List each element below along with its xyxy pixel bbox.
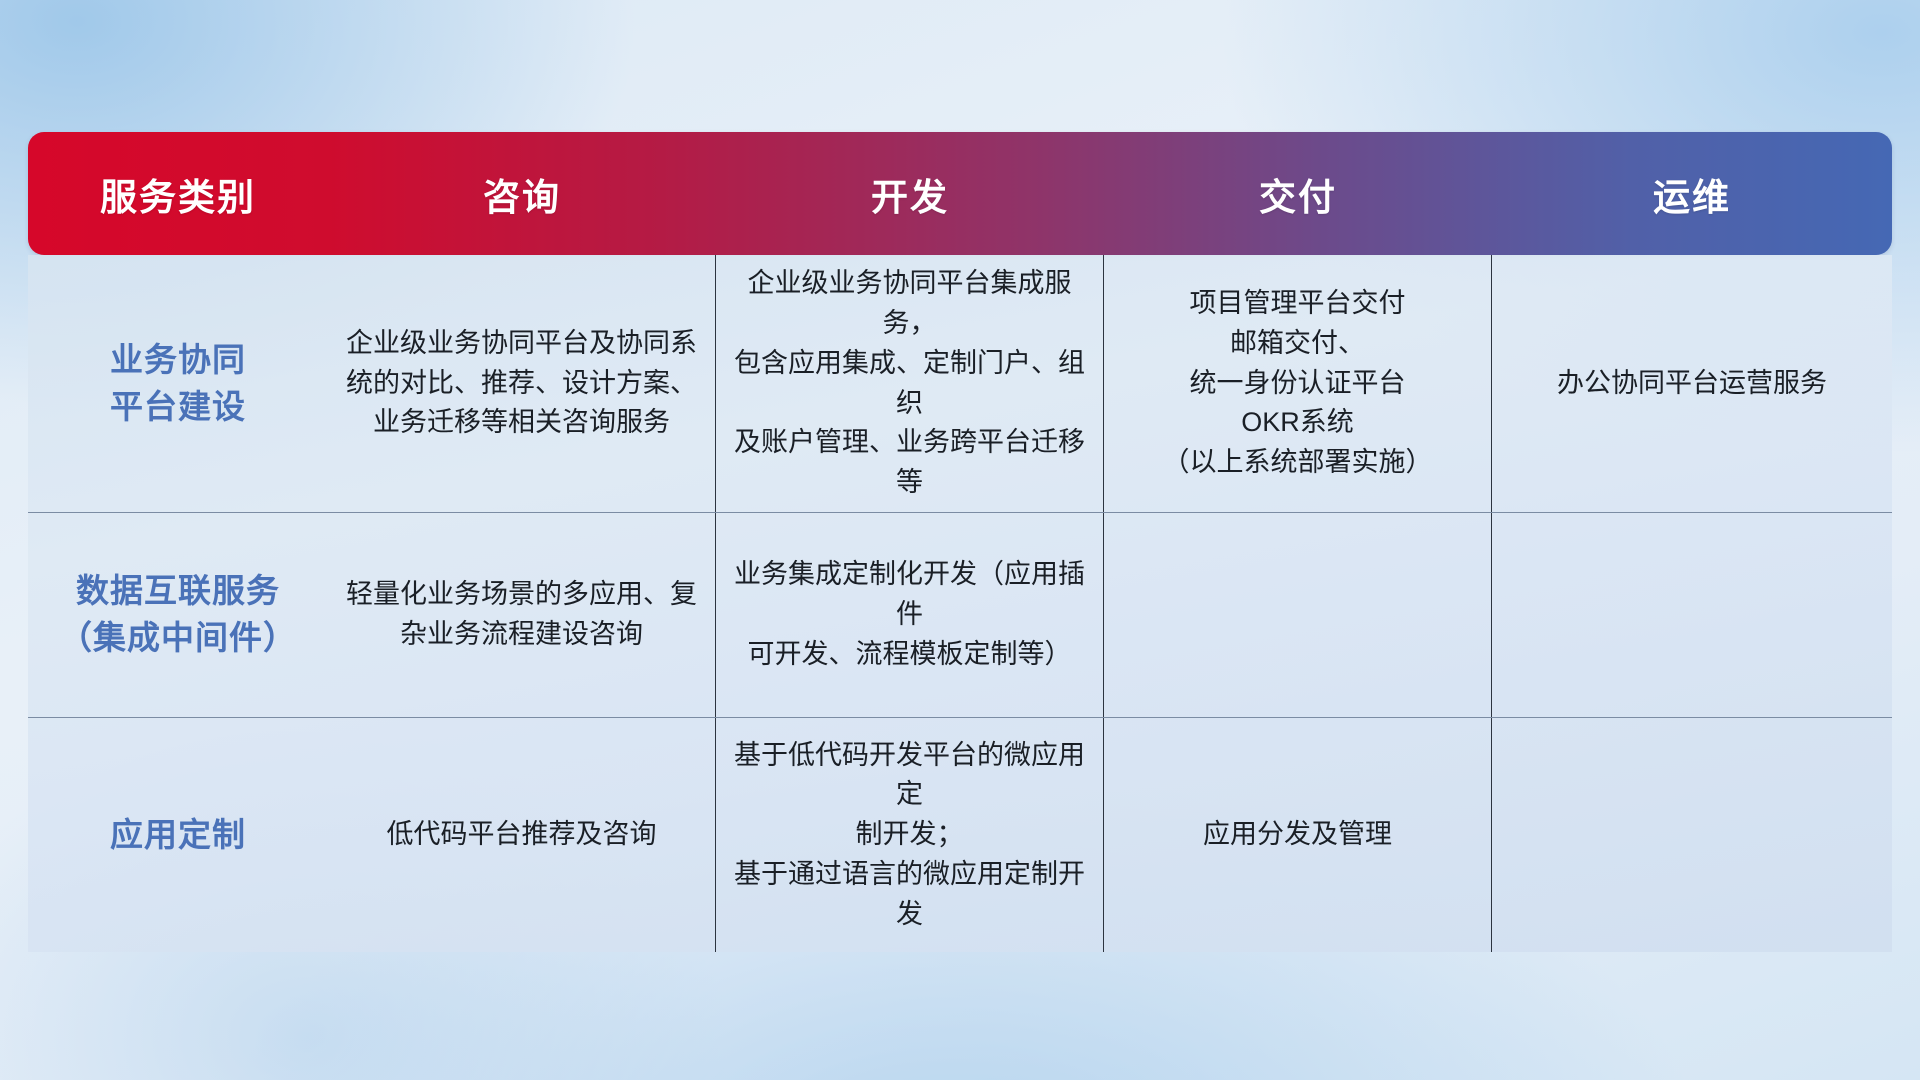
column-header-develop: 开发 [716, 132, 1104, 255]
row-3-consult-cell: 低代码平台推荐及咨询 [328, 718, 716, 952]
column-header-ops: 运维 [1492, 132, 1892, 255]
row-1-consult-text: 企业级业务协同平台及协同系 统的对比、推荐、设计方案、 业务迁移等相关咨询服务 [346, 324, 697, 443]
row-3-deliver-text: 应用分发及管理 [1203, 815, 1392, 855]
row-2-deliver-cell [1104, 513, 1492, 717]
column-header-category-label: 服务类别 [100, 167, 256, 221]
row-1-develop-text: 企业级业务协同平台集成服务， 包含应用集成、定制门户、组织 及账户管理、业务跨平… [730, 264, 1089, 502]
row-1-deliver-cell: 项目管理平台交付 邮箱交付、 统一身份认证平台 OKR系统 （以上系统部署实施） [1104, 255, 1492, 512]
row-1-develop-cell: 企业级业务协同平台集成服务， 包含应用集成、定制门户、组织 及账户管理、业务跨平… [716, 255, 1104, 512]
row-3-ops-cell [1492, 718, 1892, 952]
column-header-ops-label: 运维 [1653, 167, 1731, 221]
row-2-develop-text: 业务集成定制化开发（应用插件 可开发、流程模板定制等） [730, 555, 1089, 674]
column-header-consult-label: 咨询 [483, 167, 561, 221]
row-1-ops-text: 办公协同平台运营服务 [1557, 364, 1827, 404]
row-3-develop-text: 基于低代码开发平台的微应用定 制开发； 基于通过语言的微应用定制开发 [730, 736, 1089, 934]
row-2-consult-text: 轻量化业务场景的多应用、复 杂业务流程建设咨询 [346, 575, 697, 654]
row-3-develop-cell: 基于低代码开发平台的微应用定 制开发； 基于通过语言的微应用定制开发 [716, 718, 1104, 952]
row-1-consult-cell: 企业级业务协同平台及协同系 统的对比、推荐、设计方案、 业务迁移等相关咨询服务 [328, 255, 716, 512]
row-2-consult-cell: 轻量化业务场景的多应用、复 杂业务流程建设咨询 [328, 513, 716, 717]
column-header-develop-label: 开发 [871, 167, 949, 221]
table-row: 业务协同 平台建设 企业级业务协同平台及协同系 统的对比、推荐、设计方案、 业务… [28, 255, 1892, 513]
row-3-category-cell: 应用定制 [28, 718, 328, 952]
row-1-ops-cell: 办公协同平台运营服务 [1492, 255, 1892, 512]
table-row: 应用定制 低代码平台推荐及咨询 基于低代码开发平台的微应用定 制开发； 基于通过… [28, 718, 1892, 952]
table-body: 业务协同 平台建设 企业级业务协同平台及协同系 统的对比、推荐、设计方案、 业务… [28, 255, 1892, 952]
row-1-category-cell: 业务协同 平台建设 [28, 255, 328, 512]
column-header-category: 服务类别 [28, 132, 328, 255]
row-3-deliver-cell: 应用分发及管理 [1104, 718, 1492, 952]
table-header-row: 服务类别 咨询 开发 交付 运维 [28, 132, 1892, 255]
row-1-category-label: 业务协同 平台建设 [110, 337, 246, 431]
table-row: 数据互联服务 （集成中间件） 轻量化业务场景的多应用、复 杂业务流程建设咨询 业… [28, 513, 1892, 718]
row-1-deliver-text: 项目管理平台交付 邮箱交付、 统一身份认证平台 OKR系统 （以上系统部署实施） [1163, 284, 1433, 482]
row-2-category-label: 数据互联服务 （集成中间件） [59, 568, 297, 662]
service-matrix-table: 服务类别 咨询 开发 交付 运维 业务协同 平台建设 企业级业务协同平台及协同系… [28, 132, 1892, 952]
row-2-develop-cell: 业务集成定制化开发（应用插件 可开发、流程模板定制等） [716, 513, 1104, 717]
row-2-ops-cell [1492, 513, 1892, 717]
row-2-category-cell: 数据互联服务 （集成中间件） [28, 513, 328, 717]
row-3-consult-text: 低代码平台推荐及咨询 [387, 815, 657, 855]
column-header-deliver-label: 交付 [1259, 167, 1337, 221]
column-header-consult: 咨询 [328, 132, 716, 255]
column-header-deliver: 交付 [1104, 132, 1492, 255]
row-3-category-label: 应用定制 [110, 812, 246, 859]
